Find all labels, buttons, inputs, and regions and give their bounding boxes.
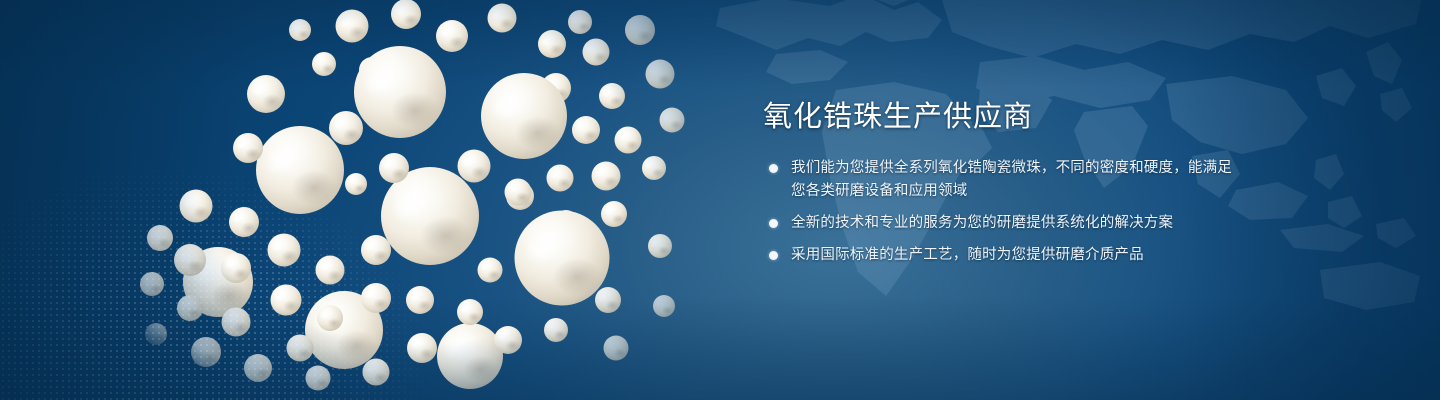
bullet-dot-icon [769,251,778,260]
list-item: 我们能为您提供全系列氧化锆陶瓷微珠，不同的密度和硬度，能满足您各类研磨设备和应用… [763,157,1233,203]
zirconia-beads-image [0,0,760,400]
banner-text-block: 氧化锆珠生产供应商 我们能为您提供全系列氧化锆陶瓷微珠，不同的密度和硬度，能满足… [763,100,1233,267]
list-item: 全新的技术和专业的服务为您的研磨提供系统化的解决方案 [763,212,1233,235]
list-item-text: 全新的技术和专业的服务为您的研磨提供系统化的解决方案 [791,215,1173,231]
list-item-text: 我们能为您提供全系列氧化锆陶瓷微珠，不同的密度和硬度，能满足您各类研磨设备和应用… [791,160,1232,199]
hero-banner: 氧化锆珠生产供应商 我们能为您提供全系列氧化锆陶瓷微珠，不同的密度和硬度，能满足… [0,0,1440,400]
feature-list: 我们能为您提供全系列氧化锆陶瓷微珠，不同的密度和硬度，能满足您各类研磨设备和应用… [763,157,1233,267]
list-item-text: 采用国际标准的生产工艺，随时为您提供研磨介质产品 [791,247,1144,263]
bullet-dot-icon [769,219,778,228]
bullet-dot-icon [769,164,778,173]
list-item: 采用国际标准的生产工艺，随时为您提供研磨介质产品 [763,244,1233,267]
page-title: 氧化锆珠生产供应商 [763,100,1233,133]
